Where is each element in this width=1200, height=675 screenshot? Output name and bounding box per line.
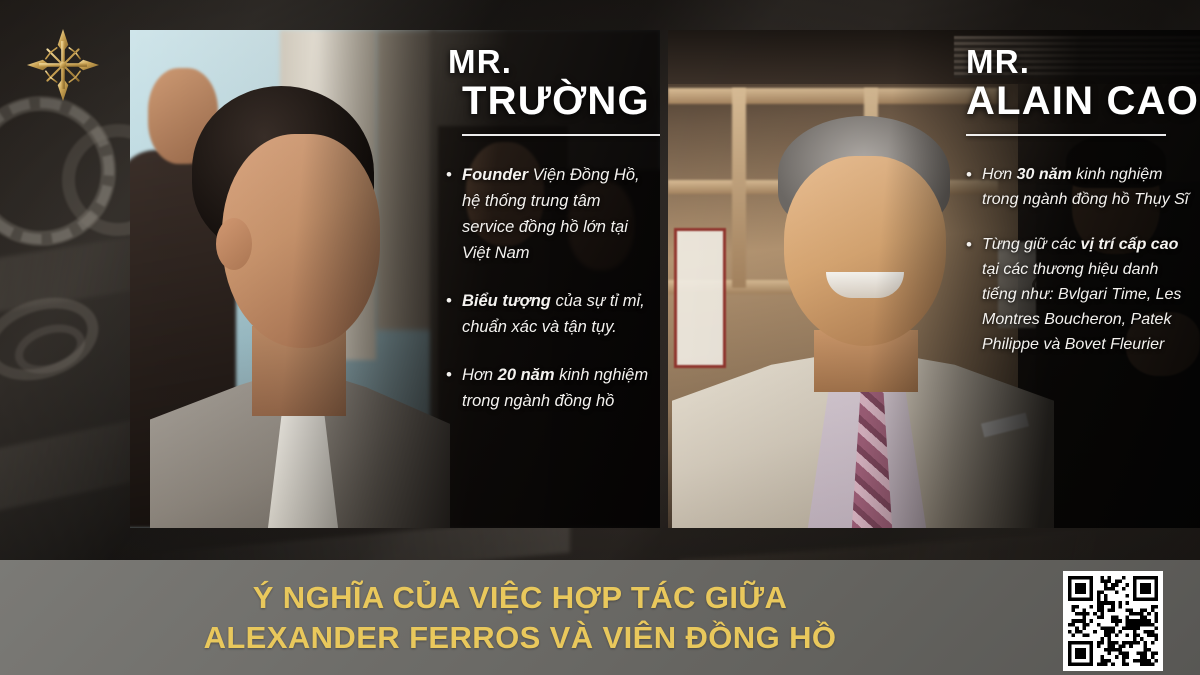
bullet-body: tại các thương hiệu danh tiếng như: Bvlg… xyxy=(982,261,1181,353)
bullet-prefix: Hơn xyxy=(462,366,498,384)
profile-name: ALAIN CAO xyxy=(966,80,1200,122)
caption-line-1: Ý NGHĨA CỦA VIỆC HỢP TÁC GIỮA xyxy=(0,578,1040,618)
brand-emblem-icon xyxy=(24,26,102,104)
profile-bullet: Founder Viện Đồng Hồ, hệ thống trung tâm… xyxy=(446,162,652,266)
bullet-prefix: Hơn xyxy=(982,166,1017,183)
profile-bullet: Biểu tượng của sự tỉ mỉ, chuẩn xác và tậ… xyxy=(446,288,652,340)
bullet-emphasis: vị trí cấp cao xyxy=(1081,236,1179,253)
qr-code[interactable] xyxy=(1063,571,1163,671)
caption-text: Ý NGHĨA CỦA VIỆC HỢP TÁC GIỮA ALEXANDER … xyxy=(0,578,1040,658)
profile-text-alain-cao: MR. ALAIN CAO Hơn 30 năm kinh nghiệm tro… xyxy=(948,30,1200,528)
profile-bullet: Từng giữ các vị trí cấp cao tại các thươ… xyxy=(966,232,1190,357)
profile-bullet-list-right: Hơn 30 năm kinh nghiệm trong ngành đồng … xyxy=(948,162,1200,357)
profile-panels: MR. TRƯỜNG OMEGA Founder Viện Đồng Hồ, h… xyxy=(130,30,1200,528)
profile-name-block: MR. TRƯỜNG OMEGA xyxy=(420,30,660,122)
profile-bullet: Hơn 30 năm kinh nghiệm trong ngành đồng … xyxy=(966,162,1190,212)
profile-honorific: MR. xyxy=(966,44,1200,80)
profile-name-block: MR. ALAIN CAO xyxy=(948,30,1200,122)
bullet-emphasis: Biểu tượng xyxy=(462,292,551,310)
profile-honorific: MR. xyxy=(448,44,660,80)
name-underline-divider xyxy=(462,134,660,136)
bullet-emphasis: Founder xyxy=(462,166,528,184)
profile-text-truong-omega: MR. TRƯỜNG OMEGA Founder Viện Đồng Hồ, h… xyxy=(420,30,660,528)
profile-name: TRƯỜNG OMEGA xyxy=(462,80,660,122)
name-underline-divider xyxy=(966,134,1166,136)
bullet-emphasis: 20 năm xyxy=(498,366,555,384)
profile-bullet-list-left: Founder Viện Đồng Hồ, hệ thống trung tâm… xyxy=(420,162,660,414)
slide-canvas: MR. TRƯỜNG OMEGA Founder Viện Đồng Hồ, h… xyxy=(0,0,1200,675)
bullet-emphasis: 30 năm xyxy=(1017,166,1072,183)
bullet-prefix: Từng giữ các xyxy=(982,236,1081,253)
caption-line-2: ALEXANDER FERROS VÀ VIÊN ĐỒNG HỒ xyxy=(0,618,1040,658)
profile-card-truong-omega[interactable]: MR. TRƯỜNG OMEGA Founder Viện Đồng Hồ, h… xyxy=(130,30,660,528)
profile-bullet: Hơn 20 năm kinh nghiệm trong ngành đồng … xyxy=(446,362,652,414)
profile-card-alain-cao[interactable]: MR. ALAIN CAO Hơn 30 năm kinh nghiệm tro… xyxy=(668,30,1200,528)
qr-code-graphic xyxy=(1068,576,1158,666)
